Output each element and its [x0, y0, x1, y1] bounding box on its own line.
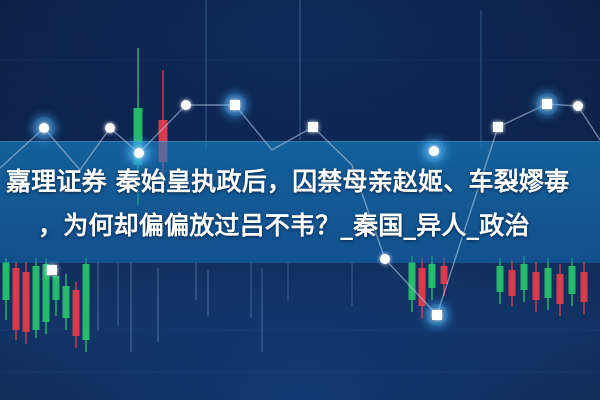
- headline-line-2: ，为何却偏偏放过吕不韦？_秦国_异人_政治: [0, 204, 600, 248]
- stock-banner-image: 嘉理证券 秦始皇执政后，囚禁母亲赵姬、车裂嫪毐 ，为何却偏偏放过吕不韦？_秦国_…: [0, 0, 600, 400]
- headline-line-1: 嘉理证券 秦始皇执政后，囚禁母亲赵姬、车裂嫪毐: [0, 160, 600, 204]
- page-title: 嘉理证券 秦始皇执政后，囚禁母亲赵姬、车裂嫪毐 ，为何却偏偏放过吕不韦？_秦国_…: [0, 160, 600, 248]
